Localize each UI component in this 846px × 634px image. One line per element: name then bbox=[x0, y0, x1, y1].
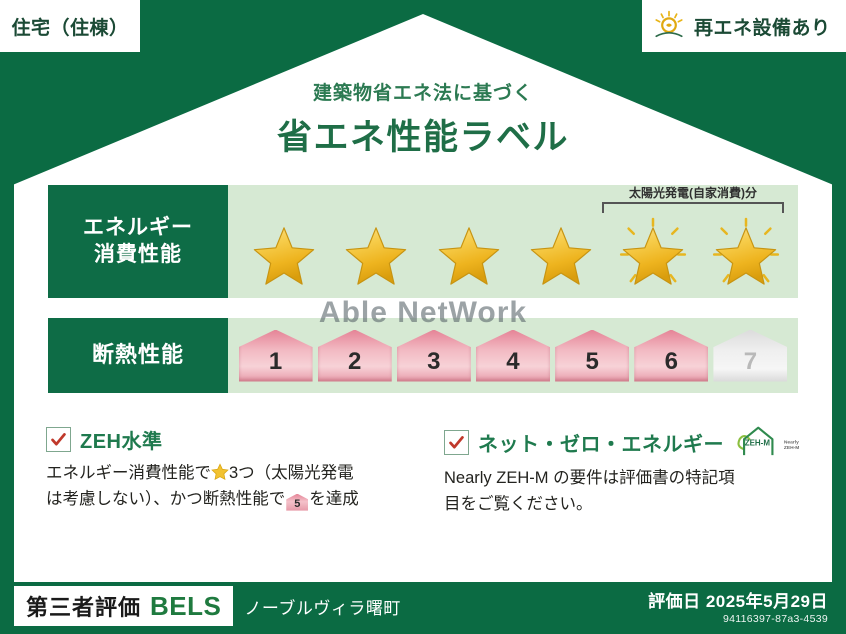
energy-performance-key: エネルギー 消費性能 bbox=[48, 185, 228, 298]
solar-bracket bbox=[602, 202, 784, 213]
criteria-zeh-body: エネルギー消費性能で3つ（太陽光発電は考慮しない）、かつ断熱性能で5を達成 bbox=[46, 461, 414, 512]
criteria-nze-title: ネット・ゼロ・エネルギー bbox=[478, 428, 724, 457]
criteria-zeh-standard: ZEH水準 エネルギー消費性能で3つ（太陽光発電は考慮しない）、かつ断熱性能で5… bbox=[46, 425, 414, 540]
criteria-zeh-text-4: を達成 bbox=[309, 490, 359, 508]
insulation-level-badge: 5 bbox=[555, 330, 629, 382]
criteria-zeh-header: ZEH水準 bbox=[46, 425, 414, 454]
star-icon bbox=[339, 216, 413, 290]
page-title: 省エネ性能ラベル bbox=[0, 109, 846, 160]
insulation-level-number: 5 bbox=[585, 348, 598, 382]
insulation-level-badge: 1 bbox=[239, 330, 313, 382]
insulation-level-number: 7 bbox=[744, 348, 757, 382]
criteria-zeh-text-2: 3つ（太陽光発電 bbox=[229, 464, 354, 482]
criteria-nze-text-1: Nearly ZEH-M の要件は評価書の特記項 bbox=[444, 469, 735, 487]
insulation-performance-key: 断熱性能 bbox=[48, 318, 228, 393]
insulation-level-number: 4 bbox=[506, 348, 519, 382]
insulation-level-number: 6 bbox=[665, 348, 678, 382]
insulation-badge-inline: 5 bbox=[286, 494, 308, 511]
check-icon bbox=[46, 427, 71, 452]
star-icon bbox=[247, 216, 321, 290]
criteria-section: ZEH水準 エネルギー消費性能で3つ（太陽光発電は考慮しない）、かつ断熱性能で5… bbox=[46, 425, 812, 540]
insulation-level-badge: 6 bbox=[634, 330, 708, 382]
insulation-level-number: 3 bbox=[427, 348, 440, 382]
footer-bar: 第三者評価 BELS ノーブルヴィラ曙町 評価日 2025年5月29日 9411… bbox=[0, 578, 846, 634]
evaluation-info: 評価日 2025年5月29日 94116397-87a3-4539 bbox=[648, 587, 828, 625]
bels-label: BELS bbox=[150, 591, 221, 622]
criteria-nze-body: Nearly ZEH-M の要件は評価書の特記項目をご覧ください。 bbox=[444, 466, 812, 517]
insulation-level-number: 2 bbox=[348, 348, 361, 382]
dwelling-type-tag: 住宅（住棟） bbox=[0, 0, 140, 52]
criteria-net-zero-energy: ネット・ゼロ・エネルギー ZEH-M Nearly ZEH-M Nearly Z… bbox=[444, 425, 812, 540]
sun-solar-icon bbox=[652, 9, 686, 43]
svg-text:ZEH-M: ZEH-M bbox=[784, 445, 799, 451]
check-icon bbox=[444, 430, 469, 455]
criteria-zeh-title: ZEH水準 bbox=[80, 425, 163, 454]
star-icon bbox=[709, 216, 783, 290]
insulation-performance-panel: 断熱性能 1 2 3 4 5 6 7 bbox=[48, 318, 798, 393]
title-block: 建築物省エネ法に基づく 省エネ性能ラベル bbox=[0, 78, 846, 160]
insulation-level-badge: 3 bbox=[397, 330, 471, 382]
insulation-badge-inline-num: 5 bbox=[286, 494, 308, 514]
title-subtitle: 建築物省エネ法に基づく bbox=[0, 78, 846, 105]
zeh-m-house-logo-icon: ZEH-M Nearly ZEH-M bbox=[737, 425, 799, 459]
criteria-nze-header: ネット・ゼロ・エネルギー ZEH-M Nearly ZEH-M bbox=[444, 425, 812, 459]
energy-performance-value: 太陽光発電(自家消費)分 bbox=[228, 185, 798, 298]
property-name: ノーブルヴィラ曙町 bbox=[244, 594, 400, 619]
energy-key-line2: 消費性能 bbox=[94, 242, 182, 269]
evaluation-id: 94116397-87a3-4539 bbox=[648, 613, 828, 625]
svg-text:Nearly: Nearly bbox=[784, 440, 799, 446]
insulation-performance-value: 1 2 3 4 5 6 7 bbox=[228, 318, 798, 393]
insulation-level-badge: 4 bbox=[476, 330, 550, 382]
evaluation-date: 評価日 2025年5月29日 bbox=[648, 587, 828, 612]
star-rating-row bbox=[238, 211, 792, 294]
insulation-level-row: 1 2 3 4 5 6 7 bbox=[228, 318, 798, 393]
renewable-equipment-tag: 再エネ設備あり bbox=[642, 0, 846, 52]
third-party-label: 第三者評価 bbox=[26, 590, 141, 622]
star-icon bbox=[616, 216, 690, 290]
insulation-level-badge: 7 bbox=[713, 330, 787, 382]
criteria-nze-text-2: 目をご覧ください。 bbox=[444, 495, 593, 513]
solar-annotation-label: 太陽光発電(自家消費)分 bbox=[598, 184, 788, 201]
star-icon bbox=[211, 463, 229, 481]
insulation-key-label: 断熱性能 bbox=[92, 341, 184, 369]
energy-performance-panel: エネルギー 消費性能 太陽光発電(自家消費)分 bbox=[48, 185, 798, 298]
star-icon bbox=[524, 216, 598, 290]
svg-text:ZEH-M: ZEH-M bbox=[745, 438, 771, 447]
renewable-equipment-label: 再エネ設備あり bbox=[694, 13, 831, 40]
criteria-zeh-text-3: は考慮しない）、かつ断熱性能で bbox=[46, 490, 285, 508]
energy-performance-label: 住宅（住棟） 再エネ設備あり 建築物省エネ法に基づく 省エネ性能ラベル bbox=[0, 0, 846, 634]
dwelling-type-label: 住宅（住棟） bbox=[11, 13, 128, 40]
criteria-zeh-text-1: エネルギー消費性能で bbox=[46, 464, 211, 482]
insulation-level-number: 1 bbox=[269, 348, 282, 382]
star-icon bbox=[432, 216, 506, 290]
solar-annotation: 太陽光発電(自家消費)分 bbox=[598, 184, 788, 213]
insulation-level-badge: 2 bbox=[318, 330, 392, 382]
energy-key-line1: エネルギー bbox=[83, 215, 193, 242]
bels-badge: 第三者評価 BELS bbox=[14, 586, 233, 626]
